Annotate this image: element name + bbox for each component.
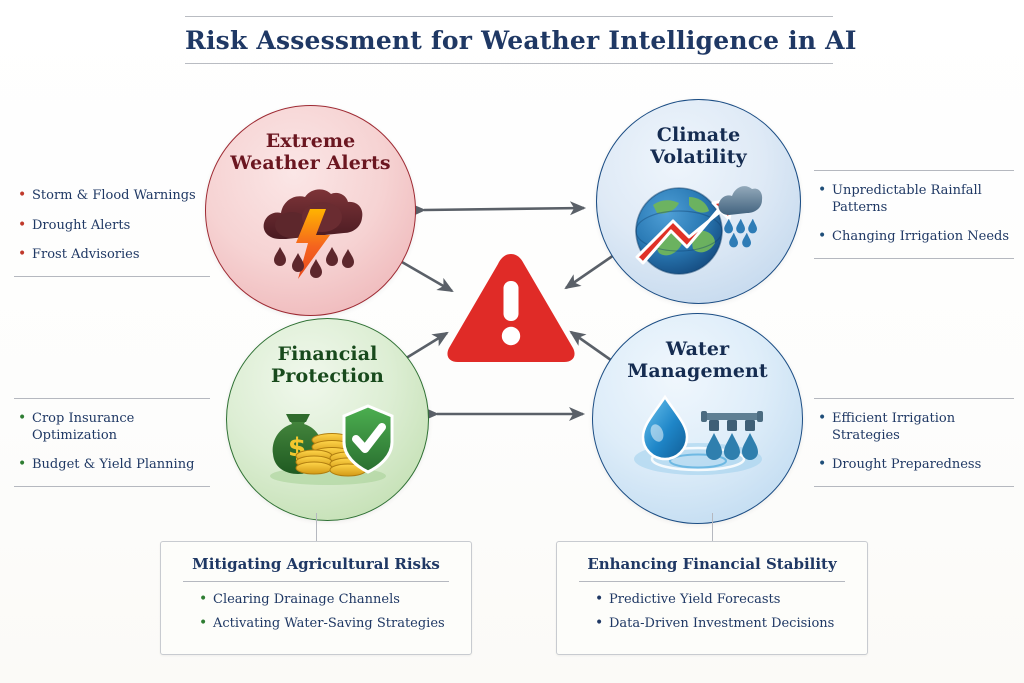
node-water-management[interactable]: Water Management bbox=[592, 313, 803, 524]
money-bag-coins-shield-check-icon: $ bbox=[262, 394, 394, 486]
card-title: Enhancing Financial Stability bbox=[573, 555, 851, 581]
list-item: Drought Alerts bbox=[18, 218, 210, 235]
list-extreme-items: Storm & Flood Warnings Drought Alerts Fr… bbox=[14, 176, 210, 276]
list-item: Data-Driven Investment Decisions bbox=[595, 616, 851, 631]
list-financial-items: Crop Insurance Optimization Budget & Yie… bbox=[14, 399, 210, 486]
node-climate-label: Climate Volatility bbox=[615, 124, 781, 169]
globe-rising-arrow-rain-cloud-icon bbox=[635, 175, 763, 279]
node-climate-volatility[interactable]: Climate Volatility bbox=[596, 99, 801, 304]
list-climate-volatility: Unpredictable Rainfall Patterns Changing… bbox=[814, 170, 1014, 259]
list-rule-bottom bbox=[14, 486, 210, 487]
card-items: Predictive Yield Forecasts Data-Driven I… bbox=[573, 592, 851, 631]
card-enhancing-financial-stability[interactable]: Enhancing Financial Stability Predictive… bbox=[556, 541, 868, 655]
card-items: Clearing Drainage Channels Activating Wa… bbox=[177, 592, 455, 631]
list-water-items: Efficient Irrigation Strategies Drought … bbox=[814, 399, 1014, 486]
card-rule bbox=[183, 581, 449, 582]
card-title: Mitigating Agricultural Risks bbox=[177, 555, 455, 581]
list-climate-items: Unpredictable Rainfall Patterns Changing… bbox=[814, 171, 1014, 258]
list-item: Crop Insurance Optimization bbox=[18, 411, 210, 444]
list-extreme-weather-alerts: Storm & Flood Warnings Drought Alerts Fr… bbox=[14, 176, 210, 277]
list-financial-protection: Crop Insurance Optimization Budget & Yie… bbox=[14, 398, 210, 487]
list-rule-bottom bbox=[14, 276, 210, 277]
node-extreme-weather-alerts[interactable]: Extreme Weather Alerts bbox=[205, 105, 416, 316]
list-item: Predictive Yield Forecasts bbox=[595, 592, 851, 607]
storm-cloud-lightning-rain-icon bbox=[252, 181, 370, 291]
list-item: Clearing Drainage Channels bbox=[199, 592, 455, 607]
card-rule bbox=[579, 581, 845, 582]
node-financial-protection[interactable]: Financial Protection $ bbox=[226, 318, 429, 521]
list-item: Efficient Irrigation Strategies bbox=[818, 411, 1014, 444]
stem-connector-right bbox=[712, 513, 713, 541]
infographic-canvas: Risk Assessment for Weather Intelligence… bbox=[0, 0, 1024, 683]
list-item: Budget & Yield Planning bbox=[18, 457, 210, 474]
node-financial-label: Financial Protection bbox=[245, 343, 410, 388]
node-extreme-label: Extreme Weather Alerts bbox=[225, 130, 396, 175]
list-rule-bottom bbox=[814, 258, 1014, 259]
list-water-management: Efficient Irrigation Strategies Drought … bbox=[814, 398, 1014, 487]
node-water-label: Water Management bbox=[612, 338, 783, 383]
list-item: Drought Preparedness bbox=[818, 457, 1014, 474]
card-mitigating-agricultural-risks[interactable]: Mitigating Agricultural Risks Clearing D… bbox=[160, 541, 472, 655]
list-item: Unpredictable Rainfall Patterns bbox=[818, 183, 1014, 216]
water-droplet-irrigation-sprinkler-icon bbox=[631, 389, 765, 481]
list-item: Changing Irrigation Needs bbox=[818, 229, 1014, 246]
list-item: Frost Advisories bbox=[18, 247, 210, 264]
list-rule-bottom bbox=[814, 486, 1014, 487]
arrow-extreme-climate bbox=[424, 208, 584, 210]
list-item: Activating Water-Saving Strategies bbox=[199, 616, 455, 631]
list-item: Storm & Flood Warnings bbox=[18, 188, 210, 205]
warning-triangle-icon bbox=[443, 248, 579, 366]
stem-connector-left bbox=[316, 513, 317, 541]
